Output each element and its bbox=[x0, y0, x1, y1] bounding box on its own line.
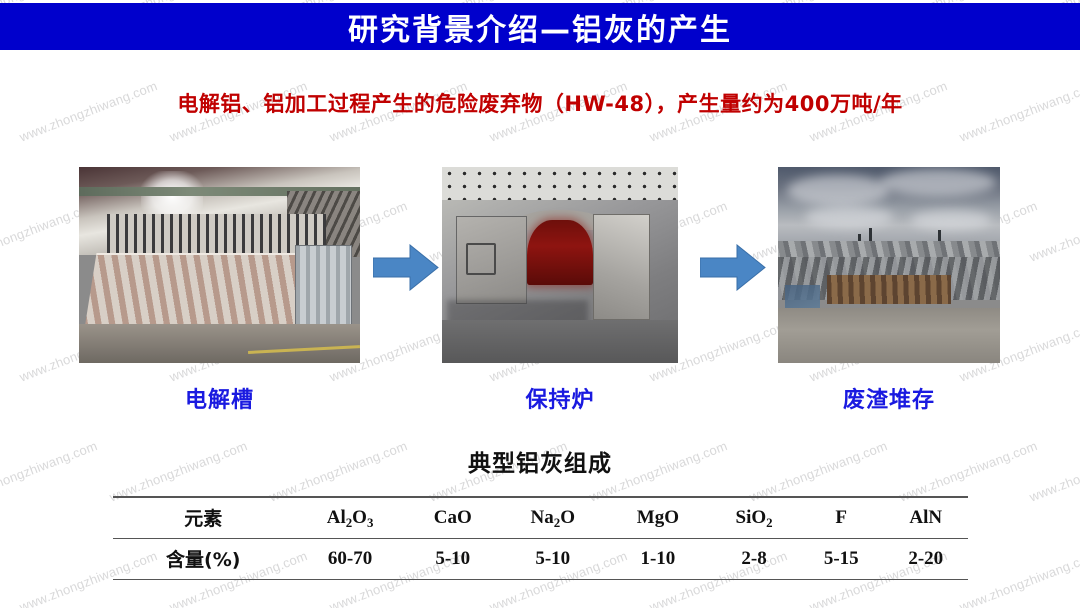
table-row-header: 元素 Al2O3 CaO Na2O MgO SiO2 F AlN bbox=[113, 497, 968, 538]
slide-canvas: 研究背景介绍—铝灰的产生 电解铝、铝加工过程产生的危险废弃物（HW-48），产生… bbox=[0, 0, 1080, 608]
photo2-door-handle bbox=[466, 243, 497, 274]
photo2-perforated-panel bbox=[442, 167, 678, 200]
right-arrow-icon bbox=[373, 244, 439, 291]
page-title: 研究背景介绍—铝灰的产生 bbox=[348, 5, 732, 49]
photo3-cloud bbox=[911, 210, 991, 230]
table-cell-cao: 5-10 bbox=[407, 538, 499, 579]
photo1-anode-rods bbox=[107, 214, 326, 257]
photo2-molten-glow bbox=[527, 220, 593, 285]
holding-furnace-photo bbox=[442, 167, 678, 363]
right-arrow-icon bbox=[700, 244, 766, 291]
photo3-rusty-debris bbox=[827, 275, 951, 304]
table-header-na2o: Na2O bbox=[499, 497, 607, 538]
table-header-al2o3: Al2O3 bbox=[293, 497, 406, 538]
table-header-aln: AlN bbox=[883, 497, 968, 538]
photo3-cloud bbox=[787, 175, 889, 206]
table-cell-aln: 2-20 bbox=[883, 538, 968, 579]
aluminium-electrolysis-cell-photo bbox=[79, 167, 360, 363]
table-rowhead-content: 含量(%) bbox=[113, 538, 293, 579]
photo2-furnace-base bbox=[442, 320, 678, 363]
table-cell-na2o: 5-10 bbox=[499, 538, 607, 579]
table-header-mgo: MgO bbox=[607, 497, 709, 538]
table-cell-al2o3: 60-70 bbox=[293, 538, 406, 579]
photo1-floor bbox=[79, 324, 360, 363]
slag-storage-yard-photo bbox=[778, 167, 1000, 363]
composition-table-heading: 典型铝灰组成 bbox=[0, 444, 1080, 478]
caption-slag-storage: 废渣堆存 bbox=[778, 382, 1000, 414]
table-cell-f: 5-15 bbox=[799, 538, 883, 579]
process-arrow-2 bbox=[700, 244, 766, 291]
caption-electrolysis-cell: 电解槽 bbox=[79, 382, 360, 414]
photo3-ground bbox=[778, 308, 1000, 363]
photo3-cloud bbox=[805, 206, 894, 228]
table-cell-sio2: 2-8 bbox=[709, 538, 799, 579]
table-cell-mgo: 1-10 bbox=[607, 538, 709, 579]
table-header-cao: CaO bbox=[407, 497, 499, 538]
subtitle-text: 电解铝、铝加工过程产生的危险废弃物（HW-48），产生量约为400万吨/年 bbox=[0, 88, 1080, 118]
photo2-right-door bbox=[593, 214, 650, 320]
table-row-content: 含量(%) 60-70 5-10 5-10 1-10 2-8 5-15 2-20 bbox=[113, 538, 968, 579]
photo1-control-cabinet bbox=[295, 245, 351, 331]
table-header-f: F bbox=[799, 497, 883, 538]
process-arrow-1 bbox=[373, 244, 439, 291]
watermark-text: www.zhongzhiwang.com bbox=[1027, 198, 1080, 264]
table-rowhead-element: 元素 bbox=[113, 497, 293, 538]
aluminium-dross-composition-table: 元素 Al2O3 CaO Na2O MgO SiO2 F AlN 含量(%) 6… bbox=[113, 496, 968, 580]
caption-holding-furnace: 保持炉 bbox=[442, 382, 678, 414]
photo3-cloud bbox=[880, 169, 995, 196]
watermark-text: www.zhongzhiwang.com bbox=[957, 548, 1080, 608]
slide-title-bar: 研究背景介绍—铝灰的产生 bbox=[0, 3, 1080, 50]
table-header-sio2: SiO2 bbox=[709, 497, 799, 538]
